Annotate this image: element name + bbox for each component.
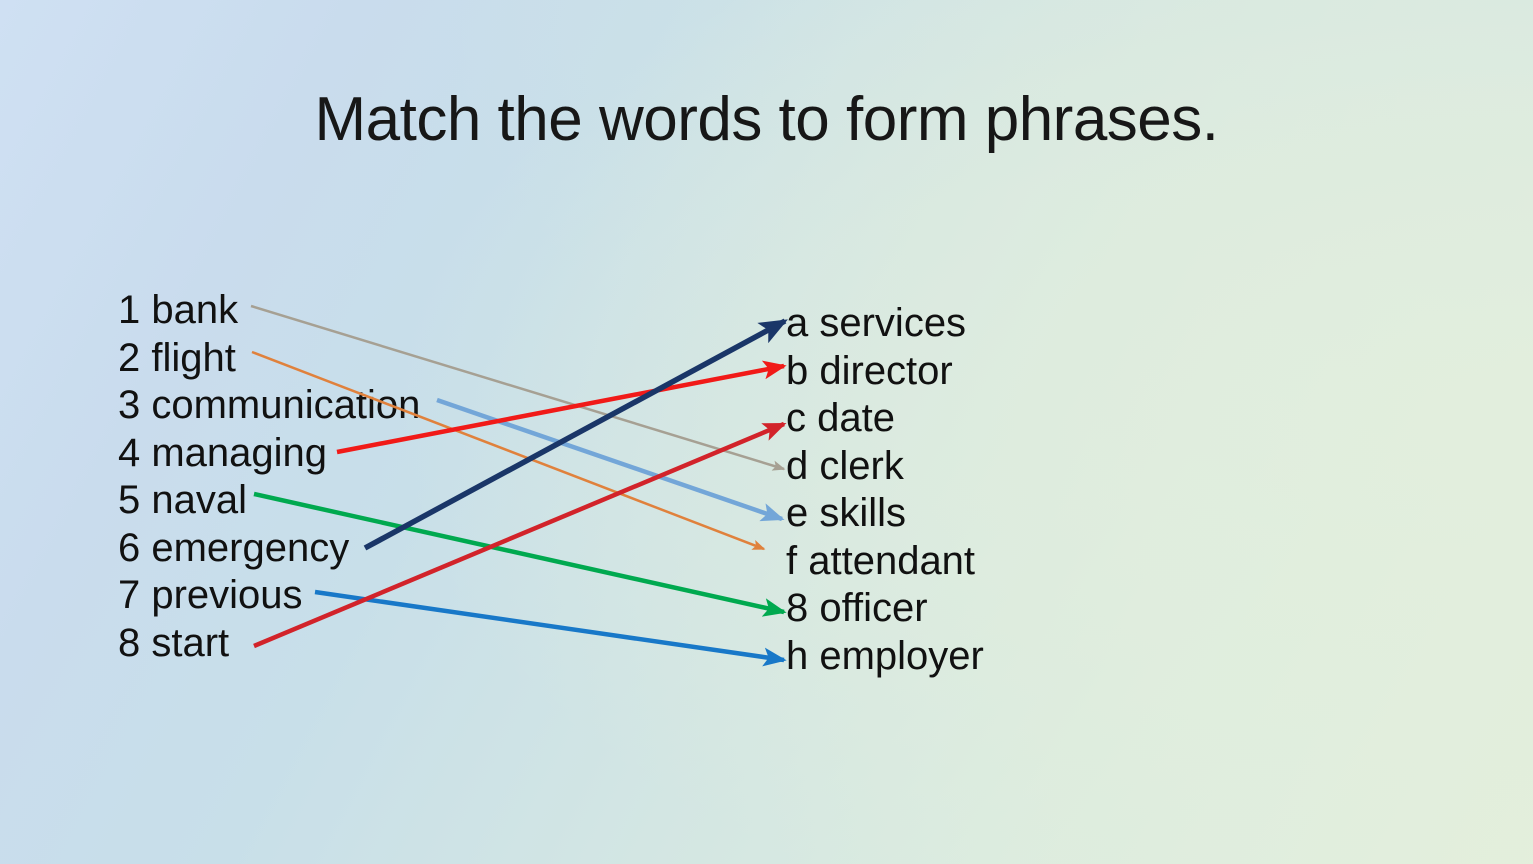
list-item[interactable]: 8 officer <box>786 585 984 633</box>
list-item[interactable]: b director <box>786 348 984 396</box>
list-item[interactable]: 6 emergency <box>118 525 420 573</box>
list-item[interactable]: e skills <box>786 490 984 538</box>
list-item[interactable]: 4 managing <box>118 430 420 478</box>
list-item[interactable]: a services <box>786 300 984 348</box>
slide-canvas: Match the words to form phrases. 1 bank … <box>0 0 1533 864</box>
list-item[interactable]: h employer <box>786 633 984 681</box>
list-item[interactable]: 5 naval <box>118 477 420 525</box>
page-title: Match the words to form phrases. <box>0 86 1533 154</box>
list-item[interactable]: 3 communication <box>118 382 420 430</box>
list-item[interactable]: d clerk <box>786 443 984 491</box>
list-item[interactable]: f attendant <box>786 538 984 586</box>
list-item[interactable]: 8 start <box>118 620 420 668</box>
list-item[interactable]: c date <box>786 395 984 443</box>
right-column: a services b director c date d clerk e s… <box>786 300 984 680</box>
